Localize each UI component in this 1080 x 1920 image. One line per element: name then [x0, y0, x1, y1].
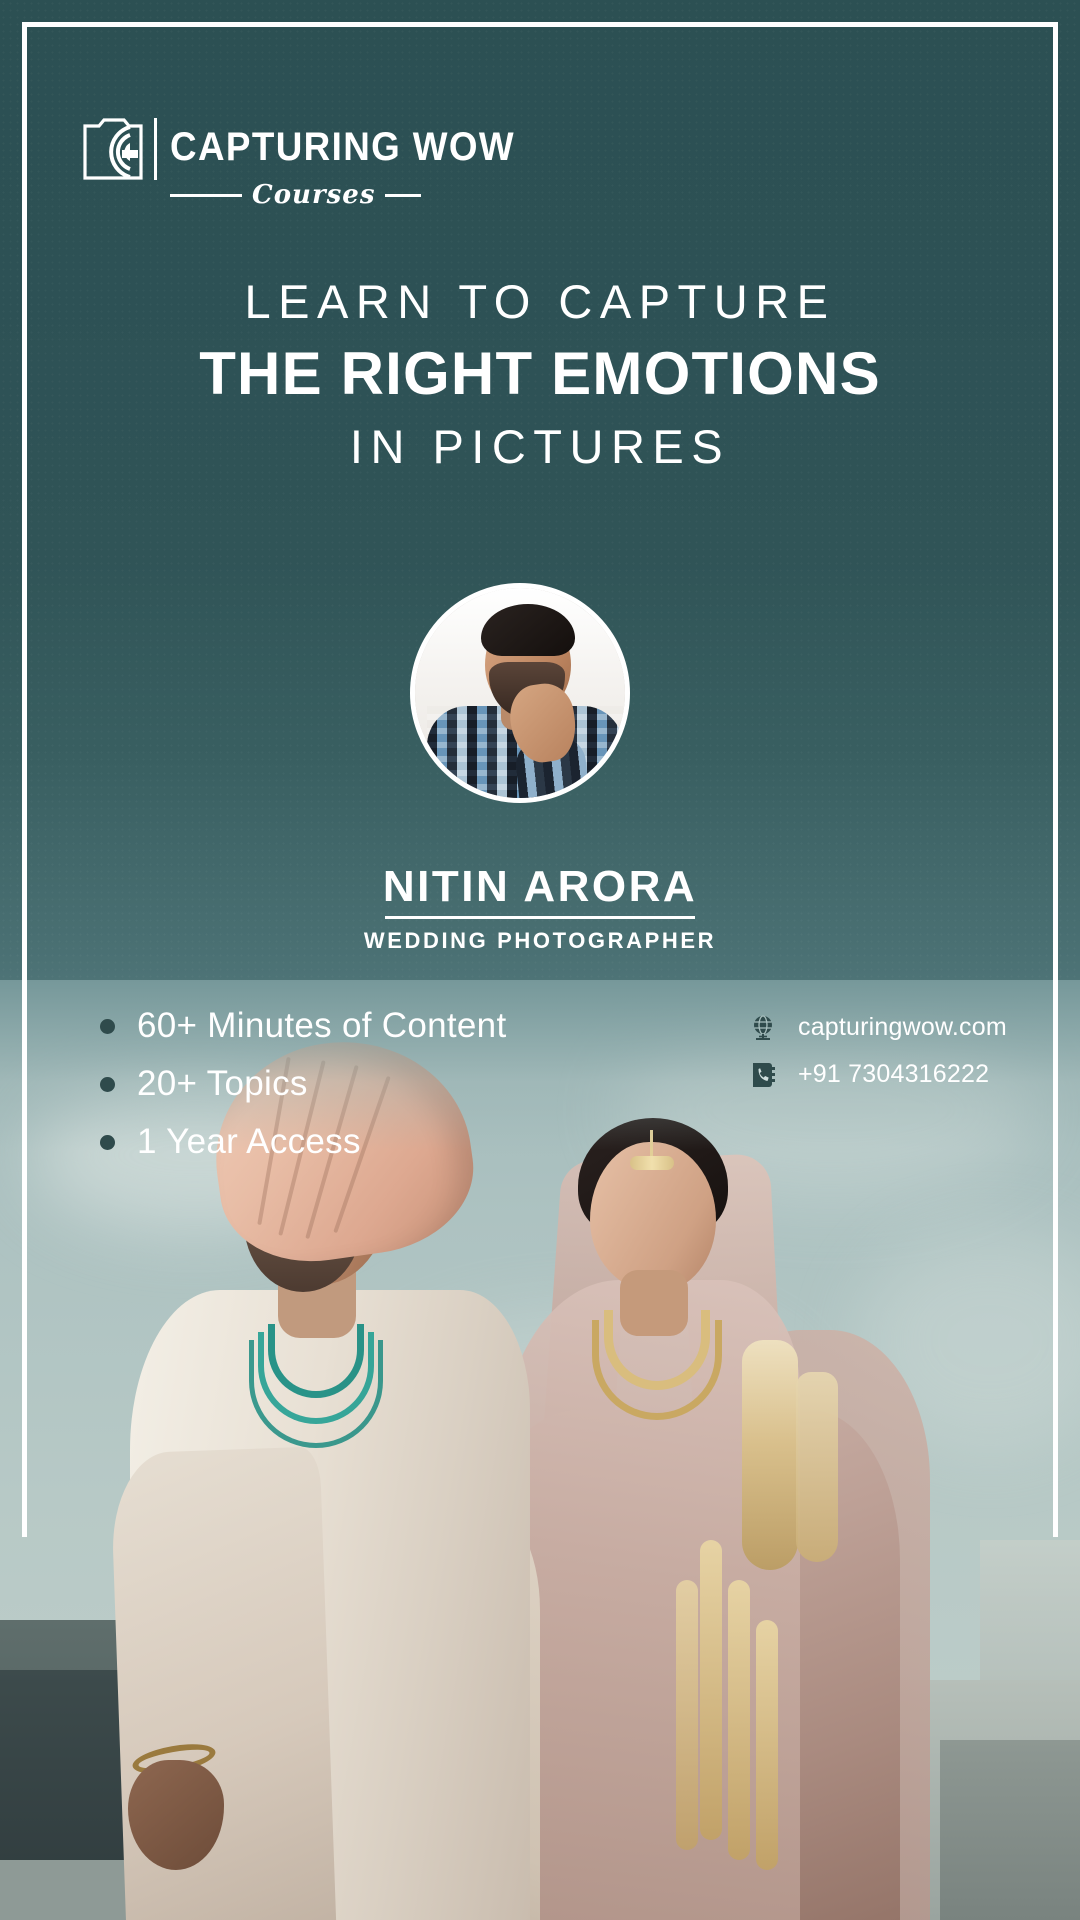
gold-strand [700, 1540, 722, 1840]
headline-line-1: LEARN TO CAPTURE [0, 274, 1080, 329]
poster-frame-left-tail [22, 1377, 27, 1537]
contact-phone-label: +91 7304316222 [798, 1060, 989, 1089]
presenter-name-rule [385, 916, 695, 919]
logo-wordmark: CAPTURING WOW [170, 118, 515, 176]
feature-list: 60+ Minutes of Content 20+ Topics 1 Year… [100, 1006, 620, 1180]
logo-rule-right [385, 194, 421, 197]
bullet-icon [100, 1135, 115, 1150]
contact-website-label: capturingwow.com [798, 1013, 1007, 1042]
presenter-avatar [410, 583, 630, 803]
globe-icon [750, 1014, 776, 1042]
building-right-near [940, 1740, 1080, 1920]
promo-poster: CAPTURING WOW Courses LEARN TO CAPTURE T… [0, 0, 1080, 1920]
list-item: 1 Year Access [100, 1122, 620, 1162]
headline-block: LEARN TO CAPTURE THE RIGHT EMOTIONS IN P… [0, 274, 1080, 475]
bullet-icon [100, 1019, 115, 1034]
logo-subtitle: Courses [170, 180, 400, 210]
gold-strand [756, 1620, 778, 1870]
headline-line-3: IN PICTURES [0, 419, 1080, 475]
list-item: 60+ Minutes of Content [100, 1006, 620, 1046]
logo-divider [154, 118, 157, 180]
presenter-role: WEDDING PHOTOGRAPHER [0, 928, 1080, 954]
contact-website[interactable]: capturingwow.com [750, 1013, 1050, 1042]
phone-book-icon [750, 1061, 776, 1089]
logo-script-word: Courses [252, 180, 375, 210]
feature-label: 60+ Minutes of Content [137, 1006, 506, 1046]
presenter-name: NITIN ARORA [0, 862, 1080, 912]
gold-strand [728, 1580, 750, 1860]
list-item: 20+ Topics [100, 1064, 620, 1104]
feature-label: 1 Year Access [137, 1122, 361, 1162]
kalire-secondary [796, 1372, 838, 1562]
brand-logo[interactable]: CAPTURING WOW Courses [82, 112, 412, 207]
headline-line-2: THE RIGHT EMOTIONS [0, 337, 1080, 410]
kalire [742, 1340, 798, 1570]
logo-rule-left [170, 194, 242, 197]
maangtikka [630, 1156, 674, 1170]
feature-label: 20+ Topics [137, 1064, 308, 1104]
contact-block: capturingwow.com +91 7304316222 [750, 1013, 1050, 1107]
poster-frame-right-tail [1053, 1377, 1058, 1537]
bullet-icon [100, 1077, 115, 1092]
gold-strand [676, 1580, 698, 1850]
camera-aperture-icon [82, 112, 144, 184]
contact-phone[interactable]: +91 7304316222 [750, 1060, 1050, 1089]
